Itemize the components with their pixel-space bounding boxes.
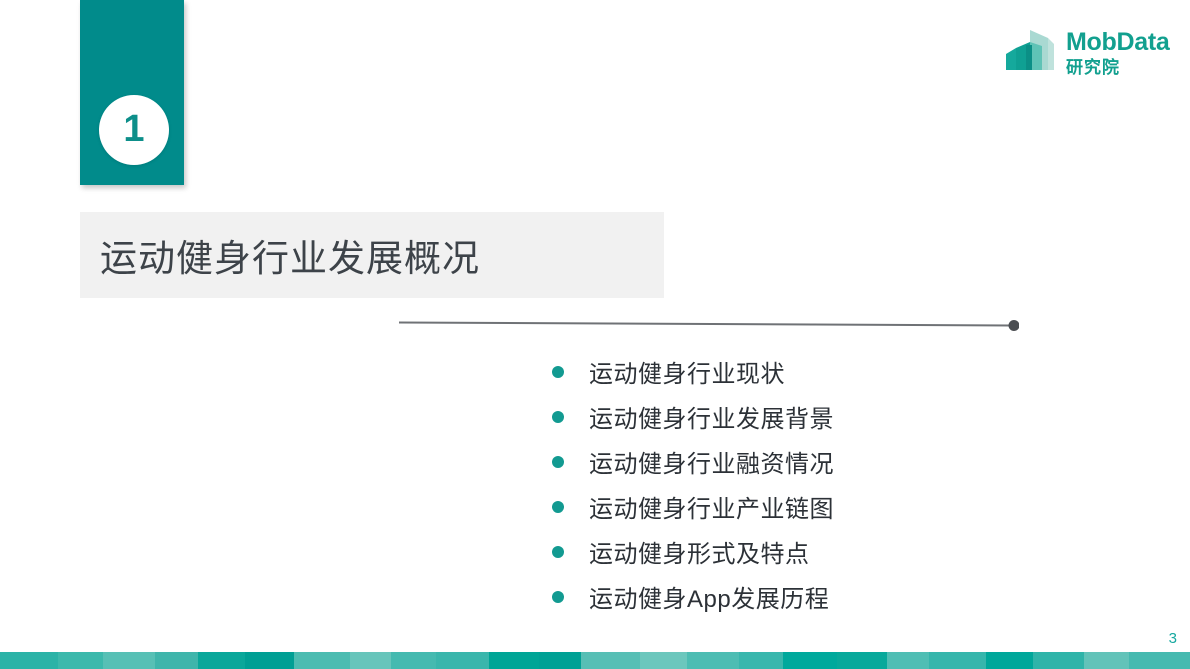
agenda-list: 运动健身行业现状 运动健身行业发展背景 运动健身行业融资情况 运动健身行业产业链… <box>552 349 834 619</box>
list-item-label: 运动健身形式及特点 <box>589 534 810 569</box>
bullet-dot-icon <box>552 591 564 603</box>
mobdata-building-logo-icon <box>1004 28 1056 78</box>
bottom-bar-segment <box>887 652 930 669</box>
bottom-bar-segment <box>58 652 103 669</box>
logo-wordmark: MobData 研究院 <box>1066 30 1169 76</box>
bottom-bar-segment <box>391 652 436 669</box>
bottom-bar-segment <box>783 652 837 669</box>
list-item-label: 运动健身行业现状 <box>589 354 785 389</box>
list-item-label: 运动健身行业发展背景 <box>589 399 834 434</box>
bottom-bar-segment <box>1033 652 1085 669</box>
slide-root: MobData 研究院 1 运动健身行业发展概况 运动健身行业现状 运动健身行业… <box>0 0 1190 669</box>
bottom-bar-segment <box>103 652 155 669</box>
list-item[interactable]: 运动健身形式及特点 <box>552 529 834 574</box>
bullet-dot-icon <box>552 366 564 378</box>
logo-title: MobData <box>1066 30 1169 55</box>
bottom-bar-segment <box>245 652 294 669</box>
bullet-dot-icon <box>552 411 564 423</box>
bullet-dot-icon <box>552 456 564 468</box>
bottom-bar-segment <box>1084 652 1129 669</box>
list-item[interactable]: 运动健身行业发展背景 <box>552 394 834 439</box>
list-item-label: 运动健身行业融资情况 <box>589 444 834 479</box>
bottom-bar-segment <box>350 652 390 669</box>
bottom-decorative-bar <box>0 652 1190 669</box>
bottom-bar-segment <box>640 652 687 669</box>
list-item[interactable]: 运动健身行业产业链图 <box>552 484 834 529</box>
divider-line-with-dot <box>399 318 1019 332</box>
bottom-bar-segment <box>294 652 350 669</box>
list-item-label: 运动健身App发展历程 <box>589 579 829 614</box>
bullet-dot-icon <box>552 546 564 558</box>
bottom-bar-segment <box>155 652 198 669</box>
section-number-value: 1 <box>123 110 144 151</box>
bottom-bar-segment <box>539 652 582 669</box>
list-item-label: 运动健身行业产业链图 <box>589 489 834 524</box>
bottom-bar-segment <box>986 652 1033 669</box>
section-title-band: 运动健身行业发展概况 <box>80 212 664 298</box>
brand-logo: MobData 研究院 <box>1004 28 1169 78</box>
bottom-bar-segment <box>581 652 639 669</box>
page-title: 运动健身行业发展概况 <box>80 228 480 282</box>
bottom-bar-segment <box>436 652 490 669</box>
list-item[interactable]: 运动健身行业现状 <box>552 349 834 394</box>
bottom-bar-segment <box>929 652 985 669</box>
bullet-dot-icon <box>552 501 564 513</box>
logo-subtitle: 研究院 <box>1066 59 1169 76</box>
bottom-bar-segment <box>1129 652 1190 669</box>
bottom-bar-segment <box>837 652 886 669</box>
bottom-bar-segment <box>489 652 538 669</box>
bottom-bar-segment <box>739 652 784 669</box>
bottom-bar-segment <box>198 652 245 669</box>
list-item[interactable]: 运动健身App发展历程 <box>552 574 834 619</box>
page-number: 3 <box>1169 630 1177 647</box>
section-number-circle: 1 <box>99 95 169 165</box>
bottom-bar-segment <box>0 652 58 669</box>
bottom-bar-segment <box>687 652 739 669</box>
list-item[interactable]: 运动健身行业融资情况 <box>552 439 834 484</box>
